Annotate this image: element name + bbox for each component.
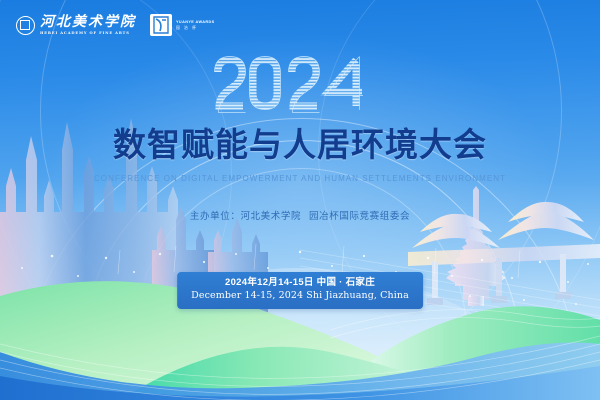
academy-name-cn: 河北美术学院	[40, 15, 136, 29]
academy-seal-icon	[16, 16, 35, 35]
academy-name-en: HEBEI ACADEMY OF FINE ARTS	[40, 32, 136, 36]
organizer-name-1: 河北美术学院	[240, 211, 301, 222]
page-subtitle: CONFERENCE ON DIGITAL EMPOWERMENT AND HU…	[0, 174, 600, 183]
conference-poster: 河北美术学院 HEBEI ACADEMY OF FINE ARTS YUANYE…	[0, 0, 600, 400]
date-text-cn: 2024年12月14-15日 中国 · 石家庄	[191, 277, 409, 290]
logo-hebei-academy[interactable]: 河北美术学院 HEBEI ACADEMY OF FINE ARTS	[16, 15, 136, 36]
yuanye-mark-icon	[150, 14, 172, 36]
year-graphic	[0, 52, 600, 120]
yuanye-name-en: YUANYE AWARDS	[176, 20, 215, 25]
organizer-label: 主办单位：	[190, 211, 241, 222]
logo-yuanye-awards[interactable]: YUANYE AWARDS 园 冶 杯	[150, 14, 215, 36]
date-text-en: December 14-15, 2024 Shi Jiazhuang, Chin…	[191, 290, 409, 303]
yuanye-name-cn: 园 冶 杯	[176, 26, 215, 31]
date-badge: 2024年12月14-15日 中国 · 石家庄 December 14-15, …	[177, 272, 423, 309]
page-title: 数智赋能与人居环境大会	[0, 128, 600, 161]
organizer-line: 主办单位：河北美术学院园冶杯国际竞赛组委会	[0, 208, 600, 222]
organizer-name-2: 园冶杯国际竞赛组委会	[309, 211, 410, 222]
header-logos: 河北美术学院 HEBEI ACADEMY OF FINE ARTS YUANYE…	[16, 14, 215, 36]
